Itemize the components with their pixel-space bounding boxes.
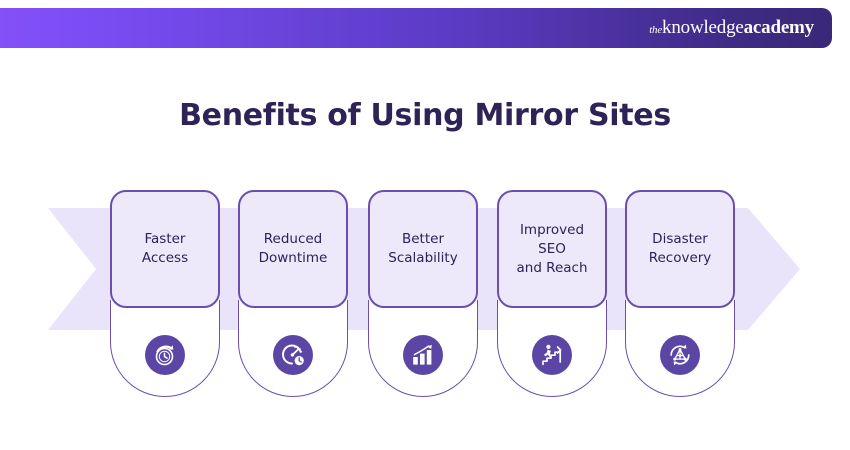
icon-container-disaster-recovery: [625, 300, 735, 397]
benefit-label-line2: Recovery: [649, 250, 712, 266]
benefit-label-line1: Reduced: [264, 231, 323, 247]
benefit-label-line1: Better: [402, 231, 444, 247]
benefit-label-line1: Faster: [145, 231, 186, 247]
benefit-label-line1: Improved SEO: [520, 222, 584, 257]
benefit-item-reduced-downtime[interactable]: Reduced Downtime: [238, 190, 348, 308]
benefit-card-disaster-recovery[interactable]: Disaster Recovery: [625, 190, 735, 308]
icon-container-reduced-downtime: [238, 300, 348, 397]
benefit-card-better-scalability[interactable]: Better Scalability: [368, 190, 478, 308]
benefit-card-faster-access[interactable]: Faster Access: [110, 190, 220, 308]
header-bar: theknowledgeacademy: [0, 8, 832, 48]
benefit-label-line2: Scalability: [388, 250, 457, 266]
benefit-label: Disaster Recovery: [643, 230, 718, 268]
benefit-card-improved-seo-and-reach[interactable]: Improved SEO and Reach: [497, 190, 607, 308]
brand-academy-text: academy: [744, 17, 814, 38]
person-climbing-stairs-icon: [532, 335, 572, 375]
benefits-row: Faster Access Reduced Downtime: [0, 0, 850, 450]
benefit-item-disaster-recovery[interactable]: Disaster Recovery: [625, 190, 735, 308]
benefit-item-faster-access[interactable]: Faster Access: [110, 190, 220, 308]
benefit-label: Better Scalability: [382, 230, 463, 268]
benefit-item-improved-seo-and-reach[interactable]: Improved SEO and Reach: [497, 190, 607, 308]
benefit-label-line2: Downtime: [259, 250, 328, 266]
brand-knowledge-text: knowledge: [662, 17, 744, 38]
page-title: Benefits of Using Mirror Sites: [0, 98, 850, 133]
benefit-item-better-scalability[interactable]: Better Scalability: [368, 190, 478, 308]
benefit-label: Reduced Downtime: [253, 230, 334, 268]
brand-the-text: the: [649, 24, 662, 36]
icon-container-better-scalability: [368, 300, 478, 397]
benefit-card-reduced-downtime[interactable]: Reduced Downtime: [238, 190, 348, 308]
icon-container-improved-seo-and-reach: [497, 300, 607, 397]
benefit-label-line2: and Reach: [516, 260, 587, 276]
stopwatch-speed-icon: [145, 335, 185, 375]
benefit-label-line2: Access: [142, 250, 188, 266]
recovery-network-icon: [660, 335, 700, 375]
benefit-label: Faster Access: [136, 230, 194, 268]
benefit-label: Improved SEO and Reach: [499, 221, 605, 278]
brand-logo: theknowledgeacademy: [649, 17, 814, 39]
growth-bar-chart-icon: [403, 335, 443, 375]
icon-container-faster-access: [110, 300, 220, 397]
gauge-downtime-icon: [273, 335, 313, 375]
benefit-label-line1: Disaster: [652, 231, 708, 247]
